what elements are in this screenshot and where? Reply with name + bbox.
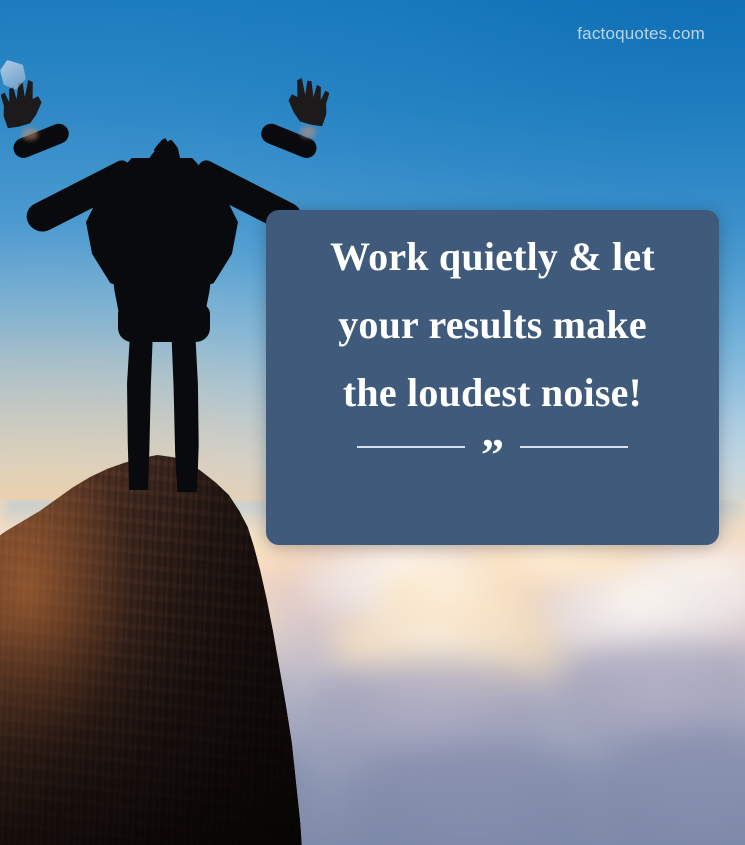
quote-line-1: Work quietly & let: [266, 236, 719, 277]
right-hand: [283, 75, 331, 126]
quote-line-3: the loudest noise!: [266, 372, 719, 413]
quote-card: Work quietly & let your results make the…: [266, 210, 719, 545]
divider-rule-right: [520, 446, 628, 448]
left-forearm: [10, 121, 71, 161]
site-watermark: factoquotes.com: [577, 24, 705, 44]
quote-poster: Work quietly & let your results make the…: [0, 0, 745, 845]
left-wrist: [22, 128, 38, 140]
divider-rule-left: [357, 446, 465, 448]
quote-line-2: your results make: [266, 304, 719, 345]
quote-divider: ”: [266, 438, 719, 456]
closing-quote-icon: ”: [481, 446, 504, 464]
head: [146, 148, 182, 194]
right-wrist: [300, 126, 316, 138]
